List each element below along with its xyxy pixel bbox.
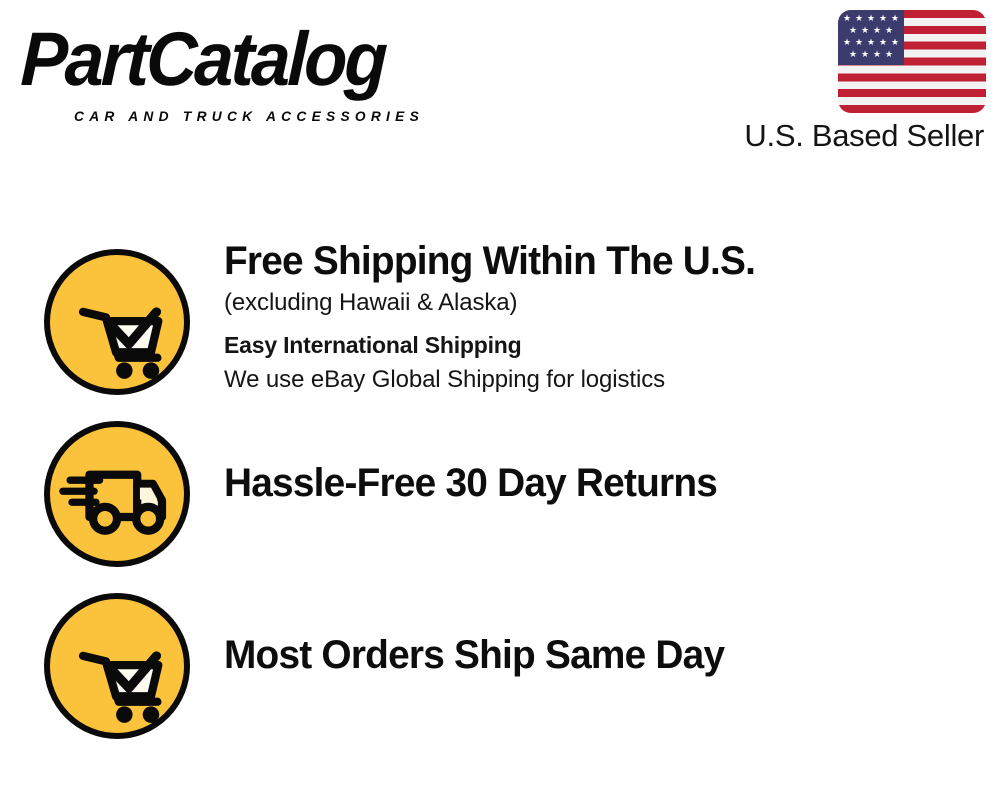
feature-sub-note: (excluding Hawaii & Alaska): [224, 287, 1000, 318]
feature-icon-slot: [0, 410, 190, 582]
flag-star-row: ★★★★: [838, 25, 904, 36]
brand-tagline: CAR AND TRUCK ACCESSORIES: [74, 108, 424, 124]
feature-headline: Free Shipping Within The U.S.: [224, 238, 977, 284]
feature-sub-heading: Easy International Shipping: [224, 330, 1000, 361]
flag-star-row: ★★★★: [838, 49, 904, 60]
flag-star-row: ★★★★★: [838, 13, 904, 24]
us-based-seller-label: U.S. Based Seller: [686, 118, 984, 154]
brand-wordmark: PartCatalog: [20, 22, 386, 98]
us-based-seller-badge: ★★★★★ ★★★★ ★★★★★ ★★★★ U.S. Based Seller: [686, 10, 986, 154]
feature-icon-slot: [0, 238, 190, 410]
flag-canton: ★★★★★ ★★★★ ★★★★★ ★★★★: [838, 10, 904, 65]
feature-text-slot: Most Orders Ship Same Day: [190, 582, 1000, 678]
feature-row: Most Orders Ship Same Day: [0, 582, 1000, 754]
shopping-cart-check-icon: [44, 249, 190, 395]
feature-headline: Most Orders Ship Same Day: [224, 632, 977, 678]
feature-text-slot: Hassle-Free 30 Day Returns: [190, 410, 1000, 506]
feature-list: Free Shipping Within The U.S. (excluding…: [0, 238, 1000, 754]
flag-star-row: ★★★★★: [838, 37, 904, 48]
feature-text-slot: Free Shipping Within The U.S. (excluding…: [190, 238, 1000, 395]
feature-row: Hassle-Free 30 Day Returns: [0, 410, 1000, 582]
shopping-cart-check-icon: [44, 593, 190, 739]
banner-page: PartCatalog CAR AND TRUCK ACCESSORIES ★★…: [0, 0, 1000, 800]
feature-row: Free Shipping Within The U.S. (excluding…: [0, 238, 1000, 410]
brand-logo[interactable]: PartCatalog CAR AND TRUCK ACCESSORIES: [22, 22, 492, 117]
delivery-truck-icon: [44, 421, 190, 567]
feature-sub-detail: We use eBay Global Shipping for logistic…: [224, 364, 1000, 395]
feature-icon-slot: [0, 582, 190, 754]
feature-headline: Hassle-Free 30 Day Returns: [224, 460, 977, 506]
us-flag-icon: ★★★★★ ★★★★ ★★★★★ ★★★★: [838, 10, 986, 113]
